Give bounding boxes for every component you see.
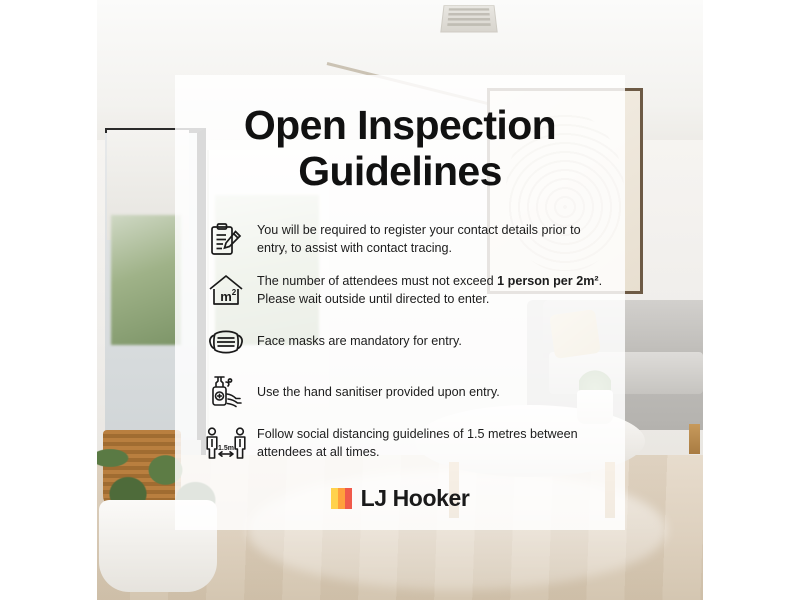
social-distancing-icon: 1.5m [203, 422, 249, 466]
rule-text-plain: You will be required to register your co… [257, 223, 581, 255]
poster-canvas: Open Inspection Guidelines [0, 0, 800, 600]
ceiling-vent-icon [440, 5, 497, 32]
list-item: Use the hand sanitiser provided upon ent… [203, 370, 607, 416]
clipboard-pen-icon [203, 218, 249, 262]
window-foliage [111, 215, 181, 345]
page-title-line-2: Guidelines [175, 149, 625, 195]
list-item-text: You will be required to register your co… [257, 222, 607, 258]
list-item-text: Face masks are mandatory for entry. [257, 333, 462, 351]
list-item: Face masks are mandatory for entry. [203, 319, 607, 365]
distance-label: 1.5m [218, 445, 234, 452]
list-item: m 2 The number of attendees must not exc… [203, 268, 607, 314]
rule-text-emphasis: 1 person per 2m² [497, 274, 598, 288]
list-item-text: The number of attendees must not exceed … [257, 273, 607, 309]
list-item-text: Follow social distancing guidelines of 1… [257, 426, 607, 462]
logo-bar-red [345, 488, 352, 509]
sofa-leg [689, 424, 700, 454]
guideline-list: You will be required to register your co… [175, 217, 625, 467]
logo-bar-orange [338, 488, 345, 509]
list-item-text: Use the hand sanitiser provided upon ent… [257, 384, 500, 402]
house-icon-unit-exponent: 2 [232, 288, 237, 297]
lj-hooker-logo: LJ Hooker [175, 485, 625, 512]
list-item: 1.5m Follow social distancing guidelines… [203, 421, 607, 467]
house-square-metre-icon: m 2 [203, 269, 249, 313]
logo-wordmark: LJ Hooker [361, 485, 470, 512]
logo-bars [331, 488, 352, 509]
hand-sanitiser-icon [203, 371, 249, 415]
logo-bar-yellow [331, 488, 338, 509]
rule-text-plain: Follow social distancing guidelines of 1… [257, 427, 578, 459]
rule-text-plain: Face masks are mandatory for entry. [257, 334, 462, 348]
page-title: Open Inspection Guidelines [175, 75, 625, 195]
house-icon-unit-label: m [220, 289, 232, 304]
list-item: You will be required to register your co… [203, 217, 607, 263]
rule-text-plain: Use the hand sanitiser provided upon ent… [257, 385, 500, 399]
page-title-line-1: Open Inspection [175, 103, 625, 149]
rule-text-prefix: The number of attendees must not exceed [257, 274, 497, 288]
guidelines-card: Open Inspection Guidelines [175, 75, 625, 530]
face-mask-icon [203, 320, 249, 364]
